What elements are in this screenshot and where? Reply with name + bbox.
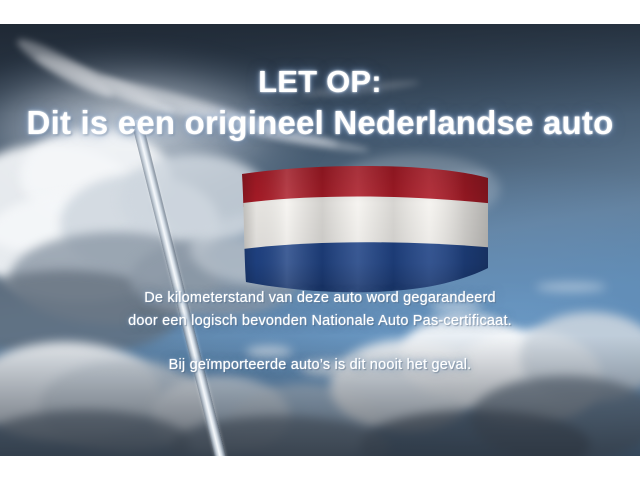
body-line-3: Bij geïmporteerde auto’s is dit nooit he… bbox=[0, 357, 640, 373]
body-line-1: De kilometerstand van deze auto word geg… bbox=[0, 290, 640, 306]
headline-line-2: Dit is een origineel Nederlandse auto bbox=[0, 104, 640, 142]
headline-line-1: LET OP: bbox=[0, 64, 640, 100]
netherlands-flag bbox=[236, 164, 490, 296]
letterbox-bottom bbox=[0, 456, 640, 480]
body-line-2: door een logisch bevonden Nationale Auto… bbox=[0, 313, 640, 329]
sky-bottom-vignette bbox=[0, 336, 640, 456]
letterbox-top bbox=[0, 0, 640, 24]
banner-image: LET OP: Dit is een origineel Nederlandse… bbox=[0, 0, 640, 480]
